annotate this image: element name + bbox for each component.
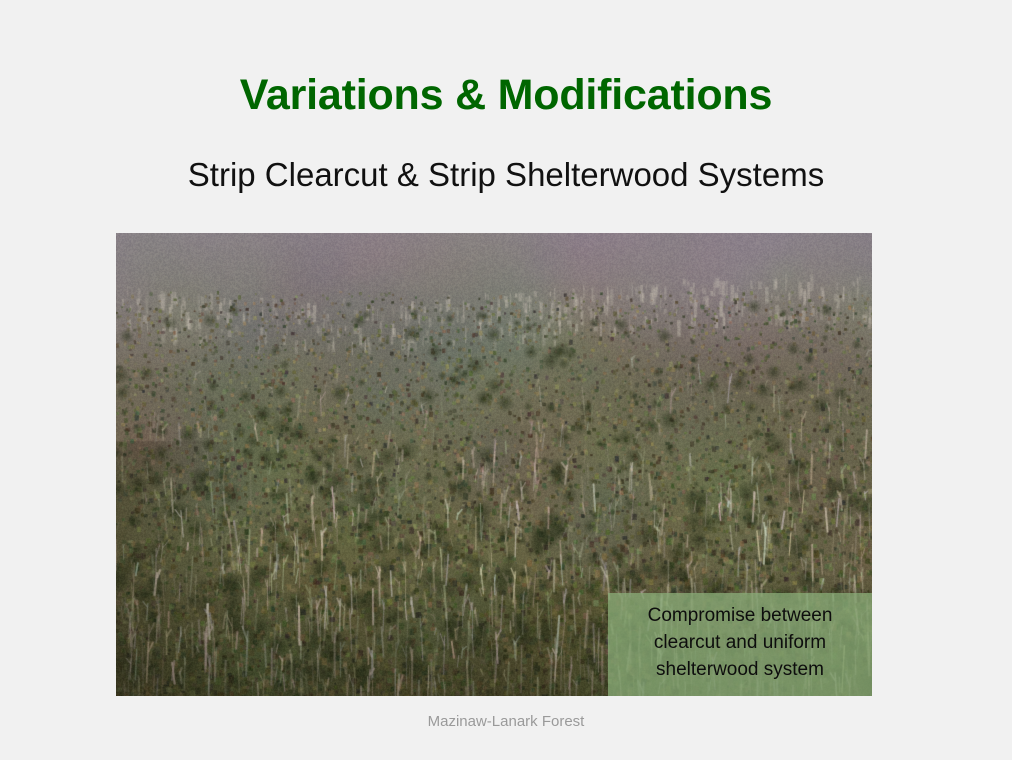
presentation-slide: Variations & Modifications Strip Clearcu… (0, 0, 1012, 760)
photo-source-credit: Mazinaw-Lanark Forest (0, 713, 1012, 730)
photo-caption-line-1: Compromise between (616, 603, 864, 630)
forest-photo: Compromise between clearcut and uniform … (116, 233, 872, 696)
photo-caption-box: Compromise between clearcut and uniform … (608, 593, 872, 696)
page-subtitle: Strip Clearcut & Strip Shelterwood Syste… (0, 157, 1012, 193)
page-title: Variations & Modifications (0, 72, 1012, 119)
photo-caption-line-3: shelterwood system (616, 657, 864, 684)
photo-caption-line-2: clearcut and uniform (616, 630, 864, 657)
